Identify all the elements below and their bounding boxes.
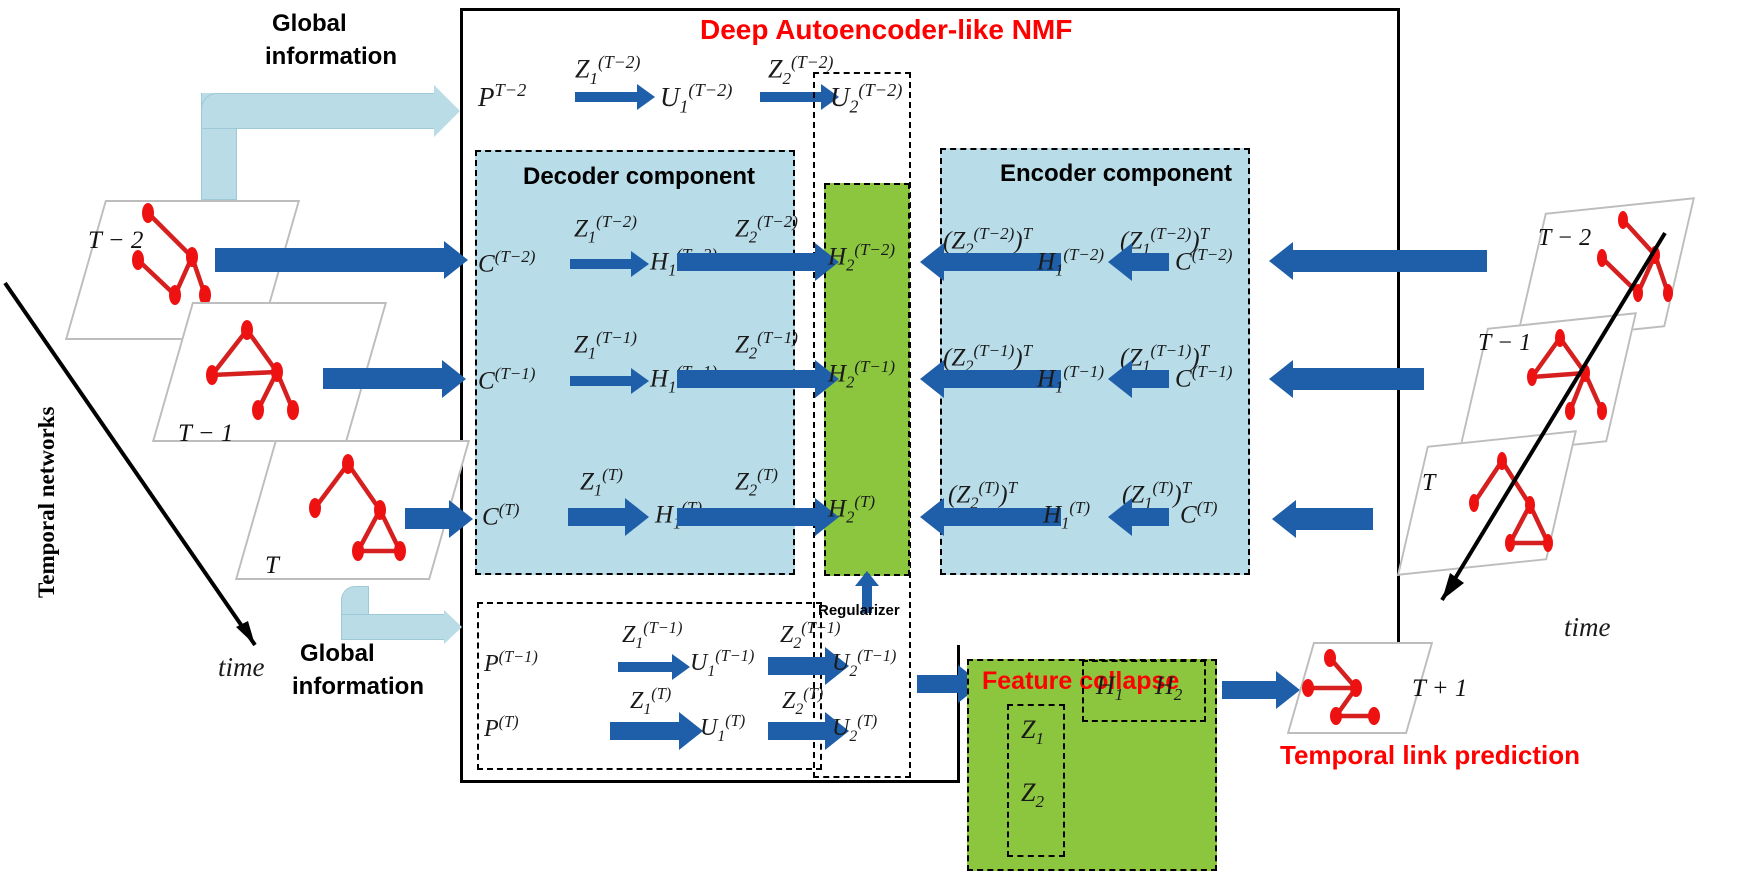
encoder-row-2-arrow-2 xyxy=(1131,508,1169,526)
decoder-row-1-Z2: Z2(T−1) xyxy=(735,328,798,363)
decoder-row-1-arrow-1 xyxy=(570,376,632,386)
bottom-row-1-U2: U2(T) xyxy=(832,711,877,746)
global-row-P: PT−2 xyxy=(478,80,526,113)
feature-collapse-Z2: Z2 xyxy=(1021,778,1044,812)
feature-collapse-H2: H2 xyxy=(1155,671,1182,705)
decoder-row-1-H2: H2(T−1) xyxy=(828,357,895,392)
encoder-row-1-H1: H1(T−1) xyxy=(1037,362,1104,397)
global-info-pipe-top-arrowhead xyxy=(434,85,460,137)
decoder-row-1-arrow-2 xyxy=(677,370,816,388)
bottom-row-0-U2: U2(T−1) xyxy=(832,646,896,681)
global-info-pipe-bottom-horizontal xyxy=(341,614,446,640)
bottom-row-0-P: P(T−1) xyxy=(484,647,538,678)
bottom-row-0-arrow-2 xyxy=(768,657,826,675)
bottom-row-1-arrow-1 xyxy=(610,722,680,740)
feature-collapse-Z1: Z1 xyxy=(1021,715,1044,749)
encoder-row-0-C: C(T−2) xyxy=(1175,245,1232,276)
global-row-U1: U1(T−2) xyxy=(660,80,732,117)
bottom-row-1-Z1: Z1(T) xyxy=(630,684,671,719)
decoder-row-2-Z1: Z1(T) xyxy=(580,465,623,500)
bottom-row-0-Z1: Z1(T−1) xyxy=(622,618,682,653)
right-input-arrow-1 xyxy=(1292,368,1424,390)
global-row-Z1: Z1(T−2) xyxy=(575,52,640,89)
decoder-row-0-Z1: Z1(T−2) xyxy=(574,212,637,247)
diagram-canvas: Deep Autoencoder-like NMF Global informa… xyxy=(0,0,1748,885)
bottom-row-0-arrow-1 xyxy=(618,662,673,672)
decoder-row-2-arrow-2 xyxy=(677,508,816,526)
left-input-arrow-0 xyxy=(215,248,445,272)
decoder-row-2-C: C(T) xyxy=(482,500,519,531)
encoder-row-0-arrow-2 xyxy=(1131,253,1169,271)
bottom-row-1-P: P(T) xyxy=(484,712,519,743)
prediction-card-label: T + 1 xyxy=(1412,675,1467,703)
temporal-link-prediction-label: Temporal link prediction xyxy=(1280,740,1580,771)
right-time-label: time xyxy=(1564,612,1611,643)
encoder-row-2-H1: H1(T) xyxy=(1043,498,1090,533)
encoder-row-0-H1: H1(T−2) xyxy=(1037,245,1104,280)
to-feature-collapse-arrow xyxy=(917,675,959,693)
left-input-arrow-2 xyxy=(405,508,450,529)
decoder-row-1-Z1: Z1(T−1) xyxy=(574,328,637,363)
right-input-arrow-2 xyxy=(1295,508,1373,530)
global-info-bottom-label-line2: information xyxy=(292,673,424,701)
decoder-row-1-C: C(T−1) xyxy=(478,364,535,395)
global-info-top-label-line2: information xyxy=(265,43,397,71)
to-prediction-arrow xyxy=(1222,681,1277,699)
encoder-row-1-arrow-2 xyxy=(1131,370,1169,388)
global-info-pipe-top-horizontal xyxy=(201,93,436,129)
decoder-row-0-H2: H2(T−2) xyxy=(828,240,895,275)
decoder-component-label: Decoder component xyxy=(523,163,755,191)
decoder-row-2-H2: H2(T) xyxy=(828,492,875,527)
decoder-row-0-arrow-1 xyxy=(570,259,632,269)
feature-collapse-H1: H1 xyxy=(1096,671,1123,705)
decoder-row-0-Z2: Z2(T−2) xyxy=(735,212,798,247)
bottom-row-1-arrow-2 xyxy=(768,722,826,740)
decoder-row-0-arrow-2 xyxy=(677,253,816,271)
decoder-row-2-arrow-1 xyxy=(568,508,626,526)
global-row-arrow-1 xyxy=(575,92,638,102)
left-input-arrow-1 xyxy=(323,368,443,389)
global-info-pipe-bottom-arrowhead xyxy=(444,610,462,644)
decoder-row-0-C: C(T−2) xyxy=(478,247,535,278)
encoder-row-1-C: C(T−1) xyxy=(1175,362,1232,393)
global-info-top-label-line1: Global xyxy=(272,10,347,38)
bottom-row-1-U1: U1(T) xyxy=(700,711,745,746)
decoder-row-2-Z2: Z2(T) xyxy=(735,465,778,500)
regularizer-label: Regularizer xyxy=(818,602,900,619)
encoder-component-label: Encoder component xyxy=(1000,160,1232,188)
left-time-label: time xyxy=(218,652,265,683)
bottom-row-0-U1: U1(T−1) xyxy=(690,646,754,681)
encoder-row-2-C: C(T) xyxy=(1180,498,1217,529)
right-time-axis xyxy=(1420,225,1720,625)
left-card-label-T-2: T − 2 xyxy=(88,227,143,255)
temporal-networks-label: Temporal networks xyxy=(34,408,60,598)
bottom-row-1-Z2: Z2(T) xyxy=(782,684,823,719)
global-info-bottom-label-line1: Global xyxy=(300,640,375,668)
page-title: Deep Autoencoder-like NMF xyxy=(700,14,1072,46)
